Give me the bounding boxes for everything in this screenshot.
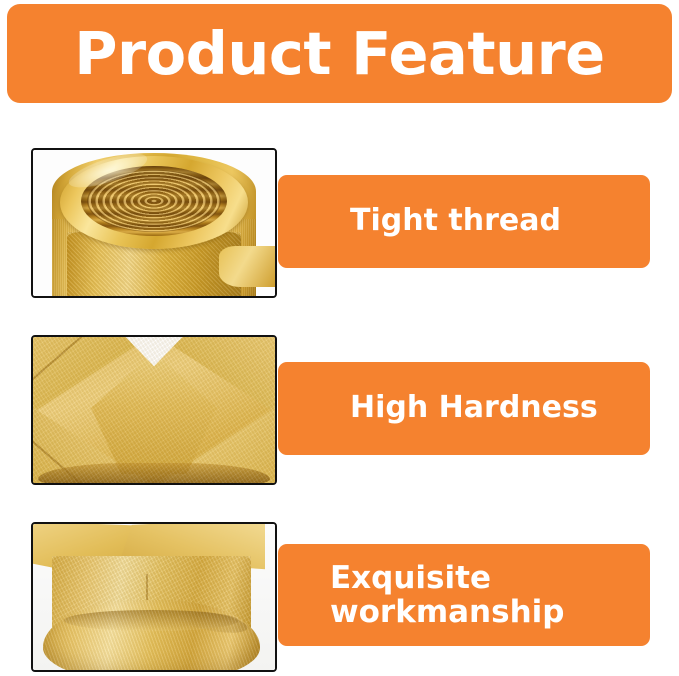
feature-row: Exquisite workmanship [0, 522, 679, 672]
fitting-side-tab [219, 246, 275, 287]
nut-flange-photo [31, 522, 277, 672]
feature-caption-plate: High Hardness [278, 362, 650, 455]
photo-inner [33, 337, 275, 483]
feature-caption-plate: Tight thread [278, 175, 650, 268]
feature-row: Tight thread [0, 148, 679, 298]
photo-inner [33, 524, 275, 670]
threaded-bore-photo [31, 148, 277, 298]
header-banner: Product Feature [7, 4, 672, 103]
feature-caption-label: Exquisite workmanship [278, 561, 564, 629]
flange-groove [64, 610, 238, 631]
cast-grain-texture [33, 337, 275, 483]
feature-row: High Hardness [0, 335, 679, 485]
feature-caption-plate: Exquisite workmanship [278, 544, 650, 646]
page-title: Product Feature [74, 24, 604, 83]
photo-inner [33, 150, 275, 296]
hex-facet-photo [31, 335, 277, 485]
feature-caption-label: Tight thread [278, 205, 561, 237]
feature-caption-label: High Hardness [278, 392, 598, 424]
